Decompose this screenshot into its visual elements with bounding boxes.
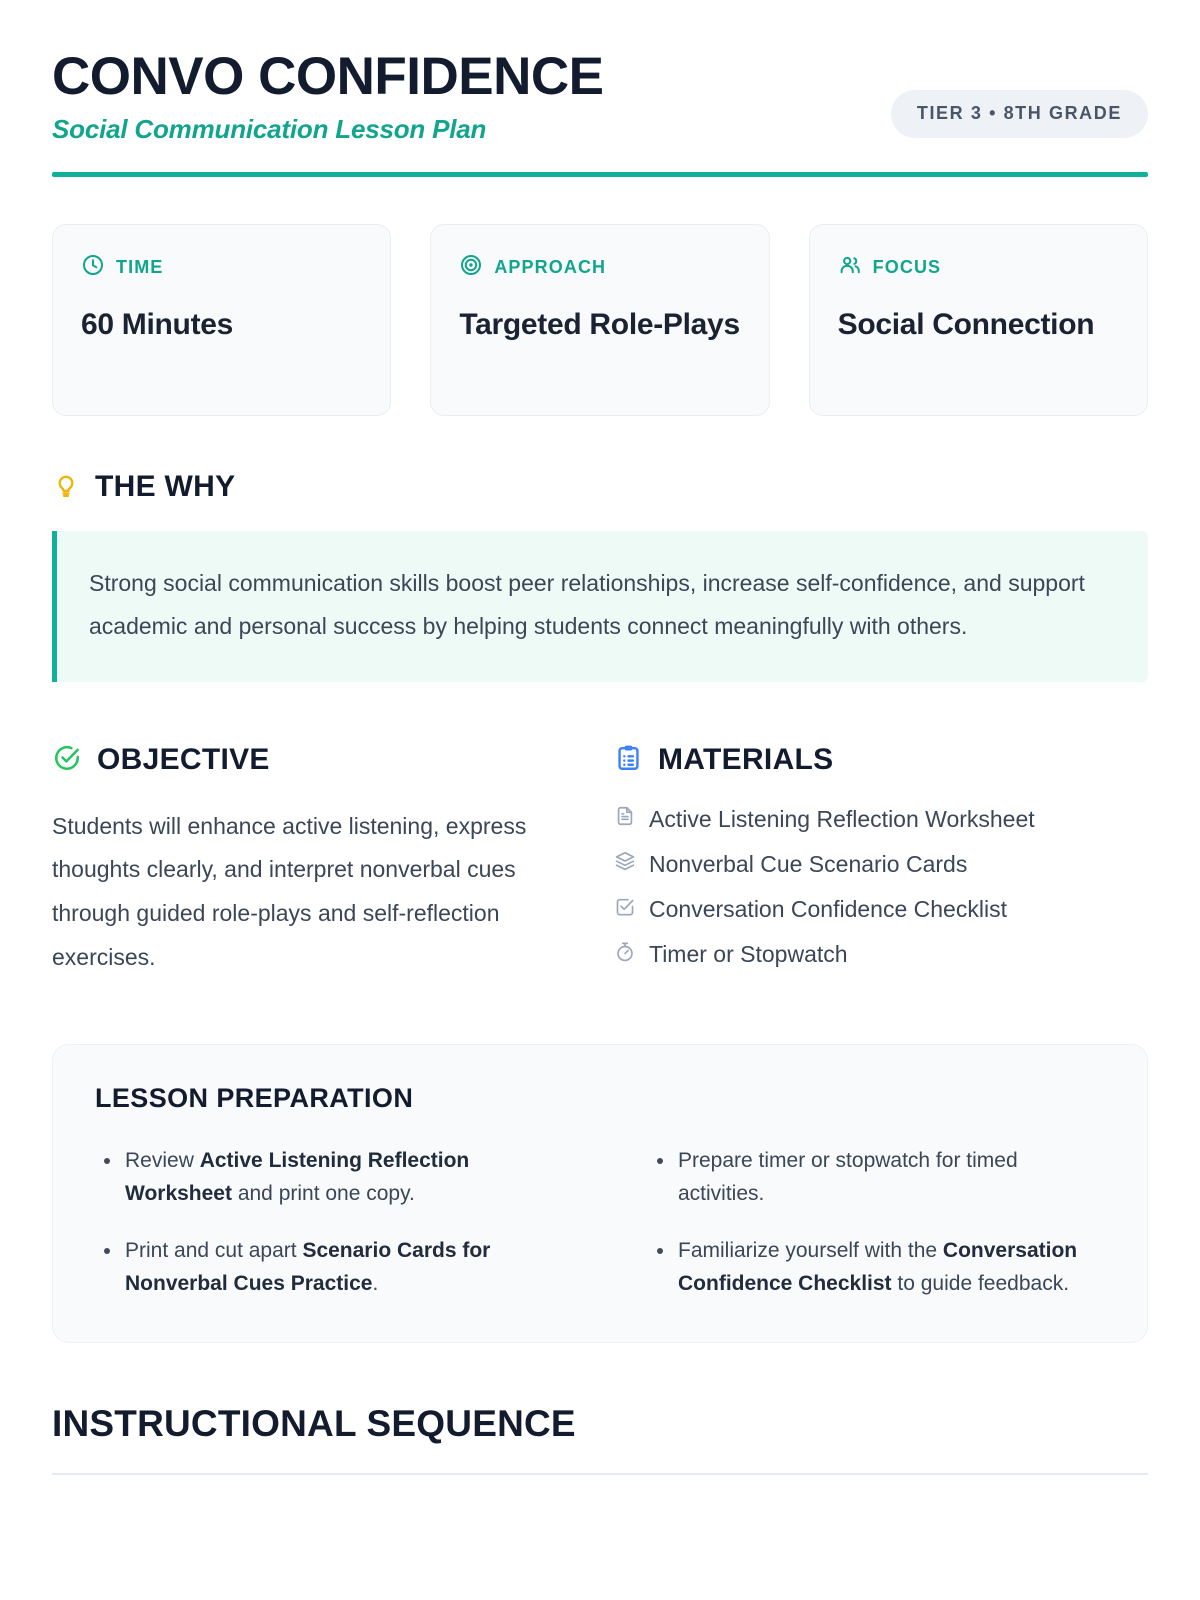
why-heading-row: THE WHY [52,470,1148,504]
materials-list: Active Listening Reflection Worksheet No… [614,803,1148,971]
section-title: THE WHY [95,470,235,504]
lesson-plan-page: CONVO CONFIDENCE Social Communication Le… [0,0,1200,1600]
material-label: Conversation Confidence Checklist [649,893,1007,925]
clipboard-list-icon [614,743,643,777]
page-header: CONVO CONFIDENCE Social Communication Le… [52,46,1148,145]
list-item: Conversation Confidence Checklist [614,893,1148,925]
section-title: INSTRUCTIONAL SEQUENCE [52,1403,1148,1445]
lesson-preparation-box: LESSON PREPARATION Review Active Listeni… [52,1044,1148,1343]
prep-columns: Review Active Listening Reflection Works… [95,1145,1105,1300]
info-card-label: TIME [116,257,163,278]
header-title-group: CONVO CONFIDENCE Social Communication Le… [52,46,603,145]
why-callout: Strong social communication skills boost… [52,531,1148,681]
info-card-value: Social Connection [838,302,1119,347]
info-card-label: FOCUS [873,257,942,278]
info-card-approach: APPROACH Targeted Role-Plays [430,224,769,416]
why-text: Strong social communication skills boost… [89,562,1114,648]
info-card-value: Targeted Role-Plays [459,302,740,347]
prep-item: Prepare timer or stopwatch for timed act… [648,1145,1105,1211]
objective-materials-row: OBJECTIVE Students will enhance active l… [52,743,1148,984]
section-title: OBJECTIVE [97,743,270,777]
check-square-icon [614,896,636,923]
objective-text: Students will enhance active listening, … [52,805,542,980]
material-label: Timer or Stopwatch [649,938,848,970]
instructional-sequence-section: INSTRUCTIONAL SEQUENCE [52,1403,1148,1475]
target-icon [459,253,483,282]
info-card-time: TIME 60 Minutes [52,224,391,416]
materials-heading-row: MATERIALS [614,743,1148,777]
prep-item: Review Active Listening Reflection Works… [95,1145,552,1211]
prep-item: Familiarize yourself with the Conversati… [648,1235,1105,1301]
info-card-header: APPROACH [459,253,740,282]
stopwatch-icon [614,941,636,968]
circle-check-icon [52,743,82,778]
info-card-row: TIME 60 Minutes APPROACH Targeted Role-P… [52,224,1148,416]
users-icon [838,253,862,282]
page-title: CONVO CONFIDENCE [52,48,603,105]
prep-item: Print and cut apart Scenario Cards for N… [95,1235,552,1301]
info-card-header: TIME [81,253,362,282]
list-item: Timer or Stopwatch [614,938,1148,970]
objective-section: OBJECTIVE Students will enhance active l… [52,743,608,984]
objective-heading-row: OBJECTIVE [52,743,608,778]
clock-icon [81,253,105,282]
material-label: Nonverbal Cue Scenario Cards [649,848,967,880]
section-title: MATERIALS [658,743,833,777]
info-card-value: 60 Minutes [81,302,362,347]
list-item: Nonverbal Cue Scenario Cards [614,848,1148,880]
prep-list-right: Prepare timer or stopwatch for timed act… [648,1145,1105,1300]
info-card-header: FOCUS [838,253,1119,282]
info-card-focus: FOCUS Social Connection [809,224,1148,416]
material-label: Active Listening Reflection Worksheet [649,803,1035,835]
prep-list-left: Review Active Listening Reflection Works… [95,1145,552,1300]
page-subtitle: Social Communication Lesson Plan [52,114,603,145]
lightbulb-icon [52,471,80,504]
list-item: Active Listening Reflection Worksheet [614,803,1148,835]
prep-title: LESSON PREPARATION [95,1083,1105,1114]
tier-grade-badge: TIER 3 • 8TH GRADE [891,90,1148,138]
file-text-icon [614,805,636,832]
section-divider [52,1473,1148,1475]
info-card-label: APPROACH [494,257,606,278]
why-section: THE WHY Strong social communication skil… [52,470,1148,681]
layers-icon [614,850,636,877]
header-accent-rule [52,172,1148,177]
materials-section: MATERIALS Active Listening Reflection Wo… [614,743,1148,984]
